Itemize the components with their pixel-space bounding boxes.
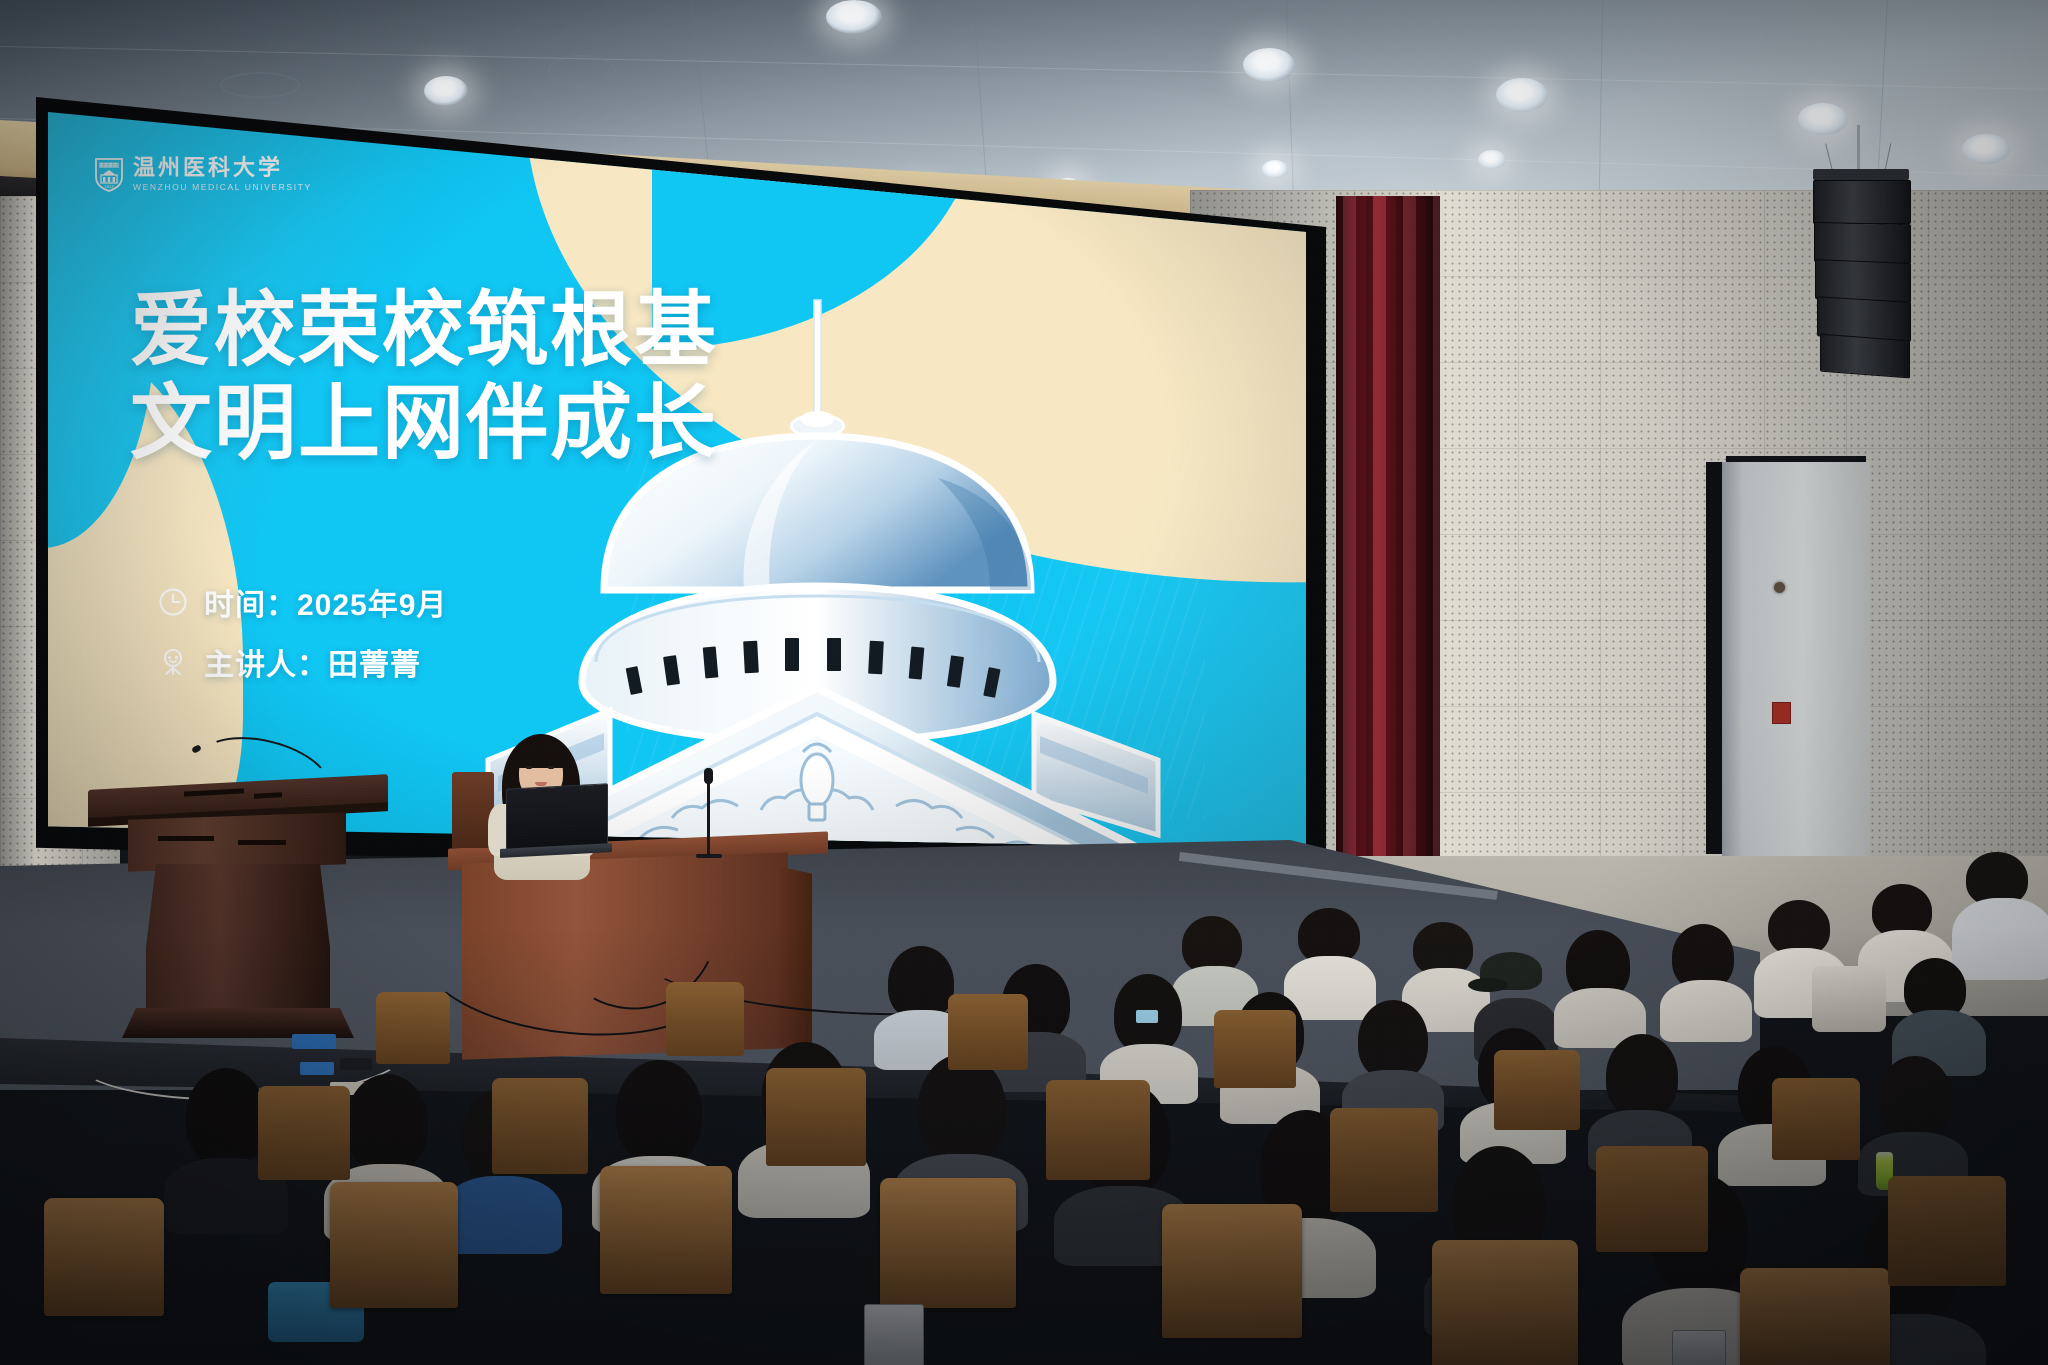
- floor-adapter: [300, 1062, 334, 1075]
- phone-screen[interactable]: [1136, 1010, 1158, 1023]
- slide-meta-speaker: 主讲人：田菁菁: [158, 640, 421, 684]
- auditorium-seat[interactable]: [1740, 1268, 1890, 1365]
- door-jamb: [1706, 462, 1722, 854]
- auditorium-seat[interactable]: [330, 1182, 458, 1308]
- door[interactable]: [1722, 462, 1870, 858]
- slide-meta-time-text: 时间：2025年9月: [204, 580, 447, 624]
- microphone-stand: [688, 768, 728, 868]
- auditorium-seat[interactable]: [666, 982, 744, 1056]
- ceiling-vent-ring: [548, 55, 616, 85]
- line-array-speaker: [1795, 125, 1925, 385]
- door-handle-icon[interactable]: [1774, 582, 1785, 593]
- auditorium-seat[interactable]: [376, 992, 450, 1064]
- auditorium-seat[interactable]: [1046, 1080, 1150, 1180]
- auditorium-seat[interactable]: [1214, 1010, 1296, 1088]
- university-crest-icon: 1912: [94, 156, 124, 192]
- ceiling-downlight: [424, 76, 468, 106]
- ceiling-downlight: [1478, 150, 1506, 169]
- logo-name-cn: 温州医科大学: [133, 157, 312, 179]
- slide-meta-speaker-text: 主讲人：田菁菁: [204, 640, 421, 684]
- auditorium-seat[interactable]: [880, 1178, 1016, 1308]
- auditorium-seat[interactable]: [44, 1198, 164, 1316]
- ceiling-downlight: [1962, 134, 2010, 164]
- fire-alarm-box: [1772, 702, 1791, 724]
- backpack: [1812, 966, 1886, 1032]
- audience-member: [1346, 1000, 1438, 1122]
- ceiling-downlight: [1243, 48, 1295, 82]
- auditorium-seat[interactable]: [1162, 1204, 1302, 1338]
- auditorium-seat[interactable]: [1888, 1176, 2006, 1286]
- slide-title: 爱校荣校筑根基 文明上网伴成长: [130, 288, 718, 468]
- auditorium-seat[interactable]: [766, 1068, 866, 1166]
- auditorium-seat[interactable]: [1596, 1146, 1708, 1252]
- audience-member: [1896, 958, 1980, 1068]
- person-icon: [158, 647, 188, 677]
- ceiling-downlight: [1262, 160, 1288, 178]
- auditorium-seat[interactable]: [1772, 1078, 1860, 1160]
- auditorium-seat[interactable]: [1494, 1050, 1580, 1130]
- auditorium-scene: 1912 温州医科大学 WENZHOU MEDICAL UNIVERSITY 爱…: [0, 0, 2048, 1365]
- audience-member: [1560, 930, 1640, 1034]
- smartphone[interactable]: [864, 1304, 924, 1365]
- clock-icon: [158, 587, 188, 617]
- audience-member: [1664, 924, 1746, 1034]
- floor-adapter: [340, 1058, 372, 1070]
- floor-adapter: [292, 1034, 336, 1049]
- logo-name-en: WENZHOU MEDICAL UNIVERSITY: [133, 182, 312, 192]
- slide-meta-time: 时间：2025年9月: [158, 580, 447, 624]
- ceiling-vent-ring: [220, 72, 300, 98]
- auditorium-seat[interactable]: [1330, 1108, 1438, 1212]
- curtain-folds: [1336, 196, 1440, 866]
- auditorium-seat[interactable]: [492, 1078, 588, 1174]
- svg-text:1912: 1912: [104, 184, 114, 189]
- auditorium-seat[interactable]: [600, 1166, 732, 1294]
- university-logo: 1912 温州医科大学 WENZHOU MEDICAL UNIVERSITY: [94, 156, 312, 192]
- slide-title-line-2: 文明上网伴成长: [130, 381, 718, 468]
- auditorium-seat[interactable]: [258, 1086, 350, 1180]
- auditorium-seat[interactable]: [948, 994, 1028, 1070]
- stage-curtain: [1336, 196, 1440, 866]
- ceiling-downlight: [826, 0, 882, 34]
- auditorium-seat[interactable]: [1432, 1240, 1578, 1365]
- ceiling-downlight: [1496, 78, 1548, 112]
- audience-member: [1104, 974, 1192, 1092]
- audience-member: [1592, 1034, 1688, 1160]
- smartphone[interactable]: [1672, 1330, 1726, 1365]
- slide-title-line-1: 爱校荣校筑根基: [130, 288, 718, 375]
